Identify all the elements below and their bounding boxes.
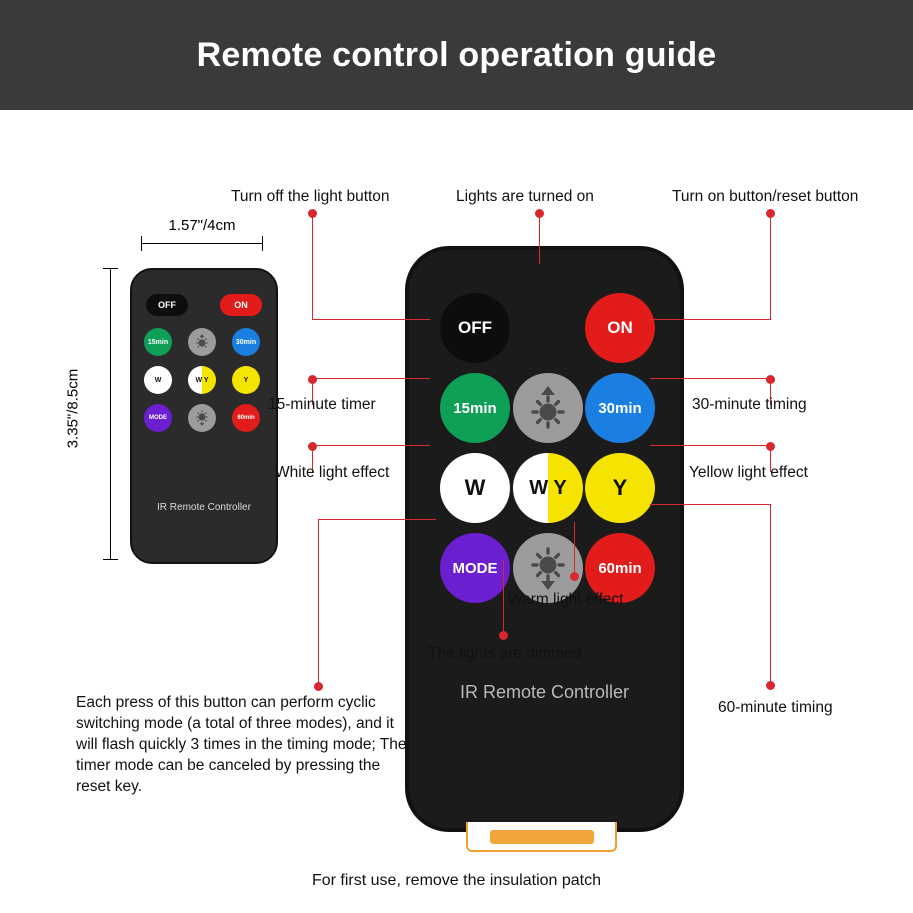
callout-mode-description: Each press of this button can perform cy… [76,693,416,798]
sun-down-glyph [192,408,212,428]
callout-yellow-label: Yellow light effect [689,464,808,482]
callout-15min-label: 15-minute timer [268,396,376,414]
callout-line-30-h [650,378,771,379]
callout-line-60-h [650,504,771,505]
callout-dot-warm [570,572,579,581]
remote-control-body: OFF ON 15min 30min W W Y [405,246,684,832]
small-remote-button-yellow[interactable]: Y [232,366,260,394]
button-15min-label: 15min [453,400,496,417]
callout-dot-on [535,209,544,218]
button-30min-label: 30min [598,400,641,417]
button-on-label: ON [607,318,633,338]
button-15min[interactable]: 15min [440,373,510,443]
small-remote-yellow-label: Y [244,377,249,384]
sun-up-icon[interactable] [188,328,216,356]
dimension-height-line [110,268,111,560]
button-yellow-light[interactable]: Y [585,453,655,523]
button-off-label: OFF [458,318,492,338]
sun-up-icon [522,382,574,434]
callout-line-white-h [312,445,430,446]
button-mode[interactable]: MODE [440,533,510,603]
button-60min-label: 60min [598,560,641,577]
sun-down-icon [522,542,574,594]
small-remote-off-label: OFF [158,300,176,310]
button-on[interactable]: ON [585,293,655,363]
dimension-height-label: 3.35"/8.5cm [65,329,82,489]
callout-line-15-h [312,378,430,379]
small-remote-mode-label: MODE [149,415,167,421]
button-30min[interactable]: 30min [585,373,655,443]
callout-dot-60 [766,681,775,690]
button-yellow-label: Y [613,475,628,501]
small-remote-button-on[interactable]: ON [220,294,262,316]
button-white-light[interactable]: W [440,453,510,523]
callout-dot-30 [766,375,775,384]
remote-brand-label: IR Remote Controller [409,682,680,703]
page-title: Remote control operation guide [197,36,717,75]
callout-line-dim-v [503,560,504,636]
button-white-label: W [465,475,486,501]
insulation-patch [466,822,617,852]
callout-line-off-h [312,319,430,320]
button-brightness-up[interactable] [513,373,583,443]
callout-30min-label: 30-minute timing [692,396,807,414]
dimension-height-tick-bottom [103,559,118,560]
small-remote-on-label: ON [234,300,248,310]
callout-line-off-v [312,212,313,320]
callout-dot-15 [308,375,317,384]
small-remote-white-label: W [155,377,162,384]
small-remote-button-60min[interactable]: 60min [232,404,260,432]
dimension-width-label: 1.57"/4cm [141,217,263,234]
small-remote-button-off[interactable]: OFF [146,294,188,316]
small-remote-button-warm[interactable]: W Y [188,366,216,394]
callout-patch-note: For first use, remove the insulation pat… [0,872,913,890]
button-warm-light[interactable]: W Y [513,453,583,523]
callout-dot-off [308,209,317,218]
sun-up-glyph [192,332,212,352]
callout-dimmed-label: The lights are dimmed [428,645,581,663]
callout-white-label: White light effect [275,464,389,482]
callout-line-mode-v [318,519,319,687]
callout-line-reset-h [650,319,771,320]
callout-dot-reset [766,209,775,218]
callout-dot-white [308,442,317,451]
small-remote-button-white[interactable]: W [144,366,172,394]
small-remote-warm-label: W Y [195,377,208,384]
small-remote-30min-label: 30min [236,339,256,346]
callout-reset-label: Turn on button/reset button [672,188,858,206]
callout-on-label: Lights are turned on [456,188,594,206]
callout-line-60-v [770,504,771,686]
callout-line-yellow-h [650,445,771,446]
callout-line-warm-v [574,522,575,576]
small-remote-button-mode[interactable]: MODE [144,404,172,432]
callout-off-label: Turn off the light button [231,188,390,206]
dimension-width-line [141,243,263,244]
page-header: Remote control operation guide [0,0,913,110]
callout-line-on-v [539,212,540,264]
callout-60min-label: 60-minute timing [718,699,833,717]
callout-dot-mode [314,682,323,691]
button-off[interactable]: OFF [440,293,510,363]
small-remote-button-30min[interactable]: 30min [232,328,260,356]
small-remote-brand: IR Remote Controller [132,502,276,513]
small-remote-15min-label: 15min [148,339,168,346]
button-mode-label: MODE [453,560,498,577]
button-warm-label: W Y [529,477,566,500]
callout-line-reset-v [770,212,771,320]
small-remote-button-15min[interactable]: 15min [144,328,172,356]
callout-dot-yellow [766,442,775,451]
callout-dot-dim [499,631,508,640]
small-remote-60min-label: 60min [237,415,254,421]
dimension-width-tick-left [141,236,142,251]
callout-warm-label: Warm light effect [508,591,623,609]
sun-down-icon[interactable] [188,404,216,432]
small-remote-overview: OFF ON 15min 30min W W Y Y [130,268,278,564]
dimension-height-tick-top [103,268,118,269]
dimension-width-tick-right [262,236,263,251]
callout-line-mode-h [318,519,436,520]
